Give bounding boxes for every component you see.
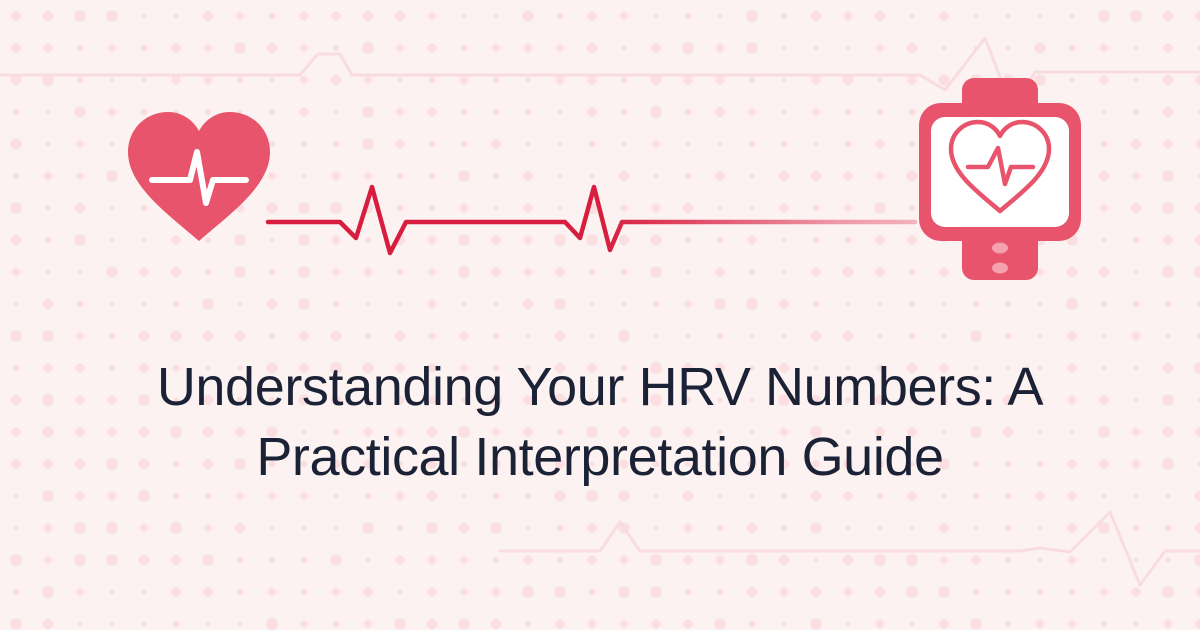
page-title-line-1: Understanding Your HRV Numbers: A: [70, 352, 1130, 422]
heart-pulse-icon: [128, 112, 270, 241]
hero-artwork: [0, 0, 1200, 630]
page-title-line-2: Practical Interpretation Guide: [70, 422, 1130, 492]
ecg-pulse-line: [268, 187, 915, 253]
smartwatch-icon: [919, 78, 1081, 280]
page-title: Understanding Your HRV Numbers: A Practi…: [0, 352, 1200, 492]
watch-button-dot-bottom: [992, 263, 1008, 274]
og-image-card: Understanding Your HRV Numbers: A Practi…: [0, 0, 1200, 630]
watch-button-dot-top: [992, 243, 1008, 254]
